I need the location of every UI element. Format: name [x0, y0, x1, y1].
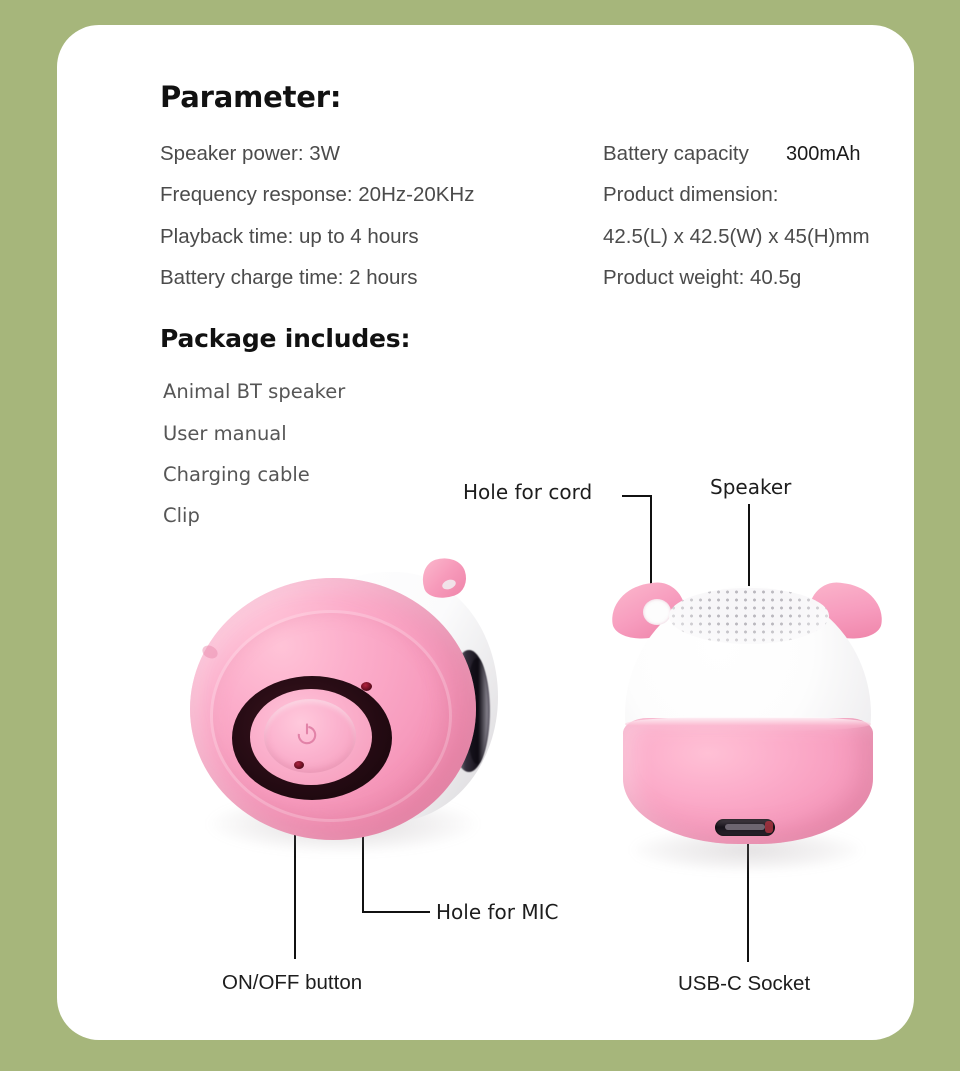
param-product-weight: Product weight: 40.5g [603, 266, 801, 290]
callout-label-hole-for-cord: Hole for cord [463, 480, 592, 504]
usb-c-port-accent [765, 821, 773, 833]
package-item-user-manual: User manual [163, 422, 287, 445]
param-battery-charge-time: Battery charge time: 2 hours [160, 266, 418, 290]
parameter-heading: Parameter: [160, 80, 341, 114]
package-item-clip: Clip [163, 504, 200, 527]
param-playback-time: Playback time: up to 4 hours [160, 225, 419, 249]
package-includes-heading: Package includes: [160, 324, 410, 353]
right-speaker-seam [625, 716, 871, 732]
leader-line-hole-for-cord-horizontal [622, 495, 652, 497]
speaker-grille-highlight [669, 588, 829, 644]
package-item-animal-bt-speaker: Animal BT speaker [163, 380, 345, 403]
usb-c-port-pin [725, 824, 765, 830]
product-photo-right-front-view [603, 570, 893, 870]
mic-hole [361, 682, 372, 691]
callout-label-on-off-button: ON/OFF button [222, 971, 362, 995]
content-card: Parameter: Speaker power: 3W Frequency r… [57, 25, 914, 1040]
package-item-charging-cable: Charging cable [163, 463, 310, 486]
callout-label-speaker: Speaker [710, 475, 791, 499]
mic-hole-secondary [294, 761, 304, 769]
cord-hole [643, 599, 671, 625]
param-frequency-response: Frequency response: 20Hz-20KHz [160, 183, 475, 207]
infographic-page: Parameter: Speaker power: 3W Frequency r… [0, 0, 960, 1071]
param-battery-capacity-label: Battery capacity [603, 142, 749, 166]
callout-label-hole-for-mic: Hole for MIC [436, 900, 558, 924]
callout-label-usb-c-socket: USB-C Socket [678, 972, 810, 996]
leader-line-hole-for-mic-horizontal [362, 911, 430, 913]
param-product-dimension-value: 42.5(L) x 42.5(W) x 45(H)mm [603, 225, 870, 249]
param-battery-capacity-value: 300mAh [786, 143, 861, 166]
power-symbol-icon [294, 721, 320, 747]
param-speaker-power: Speaker power: 3W [160, 142, 340, 166]
product-photo-left-bottom-view [190, 558, 510, 878]
param-product-dimension-label: Product dimension: [603, 183, 778, 207]
